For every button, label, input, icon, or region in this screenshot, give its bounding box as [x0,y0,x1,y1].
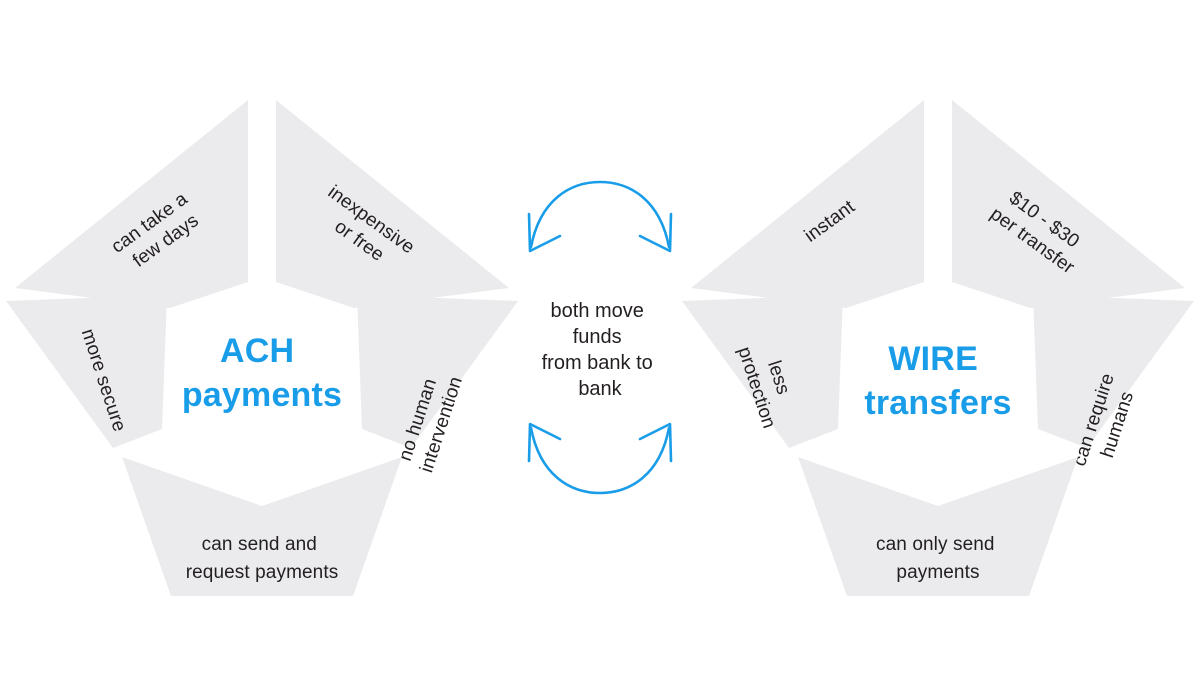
petal-shape [691,100,924,308]
petal-shape [15,100,248,308]
petal-can-require-humans[interactable]: can require humans [1033,295,1194,476]
petal-price-per-transfer[interactable]: $10 - $30 per transfer [952,100,1185,308]
petal-shape [276,100,509,308]
hub-title-line2: payments [182,376,342,414]
petal-inexpensive-or-free[interactable]: inexpensive or free [276,100,509,308]
center-line-4: bank [578,378,622,400]
center-line-3: from bank to [542,352,653,374]
petal-shape [6,295,167,448]
petal-can-only-send-payments[interactable]: can only send payments [798,457,1078,596]
center-line-2: funds [573,326,622,348]
petal-can-send-and-request-payments[interactable]: can send and request payments [122,457,402,596]
hub-title-wire: WIRE transfers [864,340,1011,422]
curved-arrow-top-arc [531,182,669,247]
petal-more-secure[interactable]: more secure [6,295,167,448]
petal-no-human-intervention[interactable]: no human intervention [357,295,518,475]
center-description: both move funds from bank to bank [542,300,659,400]
center-cluster-shared: both move funds from bank to bank [529,182,671,493]
petal-label-line2: payments [896,562,979,583]
hub-title-line2: transfers [864,384,1011,422]
petal-instant[interactable]: instant [691,100,924,308]
ach-vs-wire-diagram: can take a few days inexpensive or free … [0,0,1200,700]
curved-arrow-bottom [529,424,671,493]
hub-title-line1: WIRE [888,340,978,378]
curved-arrow-bottom-arc [531,428,669,493]
petal-less-protection[interactable]: less protection [682,295,843,448]
petal-can-take-a-few-days[interactable]: can take a few days [15,100,248,308]
petal-label-line2: request payments [186,562,339,583]
center-line-1: both move [551,300,644,322]
diagram-canvas: can take a few days inexpensive or free … [0,0,1200,700]
petal-label-line1: can send and [202,534,317,555]
petal-shape [952,100,1185,308]
curved-arrow-top [529,182,671,251]
left-cluster-ach: can take a few days inexpensive or free … [6,100,518,596]
petal-label-line1: can only send [876,534,995,555]
right-cluster-wire: instant $10 - $30 per transfer can requi… [682,100,1194,596]
hub-title-line1: ACH [220,332,294,370]
hub-title-ach: ACH payments [182,332,342,414]
